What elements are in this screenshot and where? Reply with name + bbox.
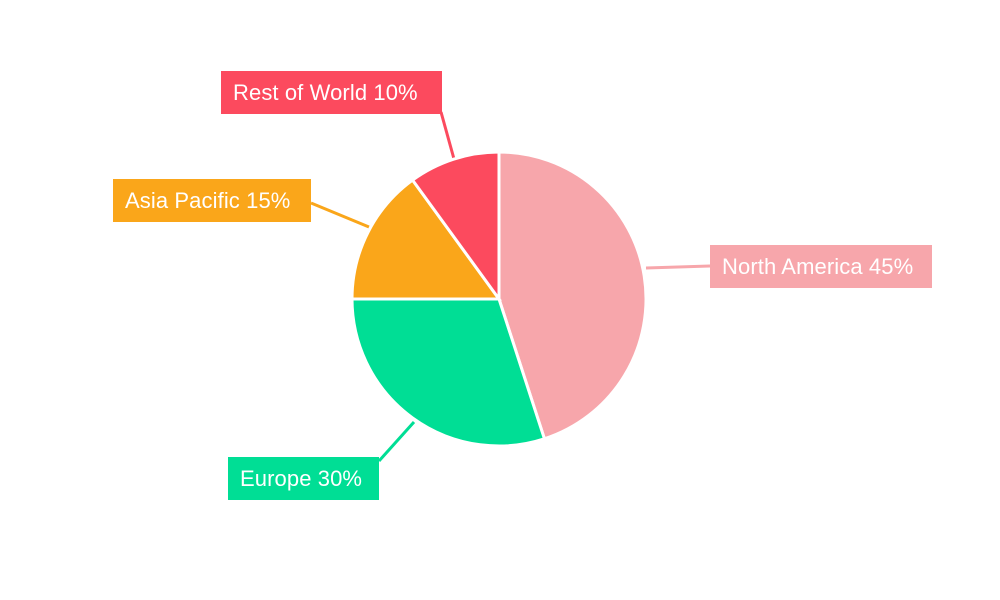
pie-slice-leader-line (311, 203, 369, 227)
pie-slice-leader-line (379, 422, 414, 461)
pie-slice-label[interactable]: North America 45% (710, 245, 932, 288)
pie-chart-figure: North America 45%Europe 30%Asia Pacific … (0, 0, 1000, 600)
pie-slice-label-text: North America 45% (722, 256, 913, 278)
pie-slice-label[interactable]: Europe 30% (228, 457, 379, 500)
pie-slice-label[interactable]: Asia Pacific 15% (113, 179, 311, 222)
pie-slice-label[interactable]: Rest of World 10% (221, 71, 442, 114)
pie-slice-label-text: Europe 30% (240, 468, 362, 490)
pie-chart-canvas (0, 0, 1000, 600)
pie-wedges-group (352, 152, 646, 446)
pie-slice-label-text: Asia Pacific 15% (125, 190, 290, 212)
pie-slice-leader-line (441, 112, 454, 159)
pie-slice-leader-line (646, 266, 710, 268)
pie-slice-label-text: Rest of World 10% (233, 82, 418, 104)
